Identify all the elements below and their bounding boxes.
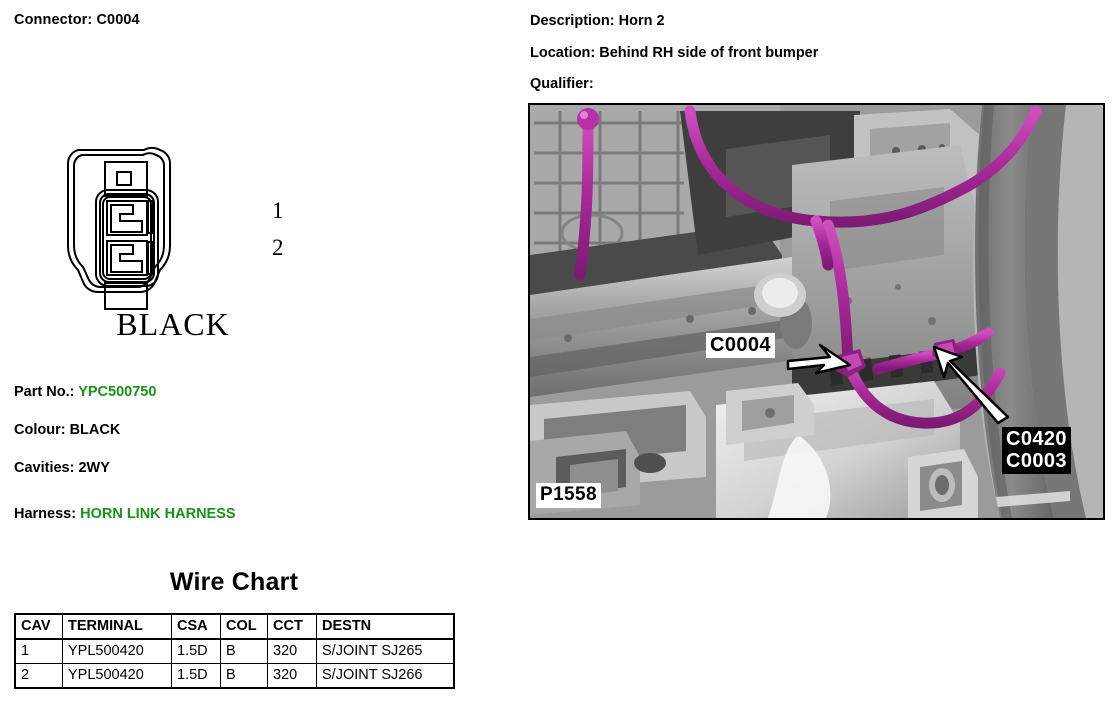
photo-callout-c0420-c0003: C0420 C0003	[1002, 427, 1071, 474]
column-header-cct: CCT	[268, 614, 317, 639]
wire-chart-table: CAV TERMINAL CSA COL CCT DESTN 1 YPL5004…	[14, 613, 455, 689]
photo-callout-c0004: C0004	[706, 333, 775, 358]
spec-part-no: Part No.: YPC500750	[14, 383, 494, 421]
cell-cav: 1	[15, 639, 63, 664]
wire-chart-header-row: CAV TERMINAL CSA COL CCT DESTN	[15, 614, 454, 639]
spec-cavities: Cavities: 2WY	[14, 459, 494, 505]
wire-chart-title: Wire Chart	[14, 568, 454, 597]
column-header-cav: CAV	[15, 614, 63, 639]
table-row: 2 YPL500420 1.5D B 320 S/JOINT SJ266	[15, 664, 454, 689]
cell-terminal: YPL500420	[63, 639, 172, 664]
spec-harness-value: HORN LINK HARNESS	[80, 506, 235, 522]
connector-pin-numbers: 1 2	[272, 192, 284, 266]
column-header-destn: DESTN	[317, 614, 455, 639]
spec-part-no-value: YPC500750	[78, 384, 156, 400]
cell-cav: 2	[15, 664, 63, 689]
cell-csa: 1.5D	[172, 639, 221, 664]
connector-colour-caption: BLACK	[78, 306, 268, 343]
connector-specs: Part No.: YPC500750 Colour: BLACK Caviti…	[14, 383, 494, 543]
left-panel: Connector: C0004	[0, 0, 520, 718]
column-header-terminal: TERMINAL	[63, 614, 172, 639]
spec-part-no-label: Part No.:	[14, 384, 74, 400]
connector-detail-page: Connector: C0004	[0, 0, 1115, 718]
photo-callout-p1558: P1558	[536, 483, 601, 508]
connector-heading: Connector: C0004	[14, 12, 140, 28]
cell-terminal: YPL500420	[63, 664, 172, 689]
cell-csa: 1.5D	[172, 664, 221, 689]
column-header-csa: CSA	[172, 614, 221, 639]
spec-harness: Harness: HORN LINK HARNESS	[14, 505, 494, 543]
cell-cct: 320	[268, 639, 317, 664]
column-header-col: COL	[221, 614, 268, 639]
table-row: 1 YPL500420 1.5D B 320 S/JOINT SJ265	[15, 639, 454, 664]
cell-destn: S/JOINT SJ266	[317, 664, 455, 689]
photo-callout-c0420-text: C0420	[1006, 428, 1067, 450]
cell-col: B	[221, 664, 268, 689]
description-line: Description: Horn 2	[530, 13, 665, 29]
photo-callout-c0003-text: C0003	[1006, 450, 1067, 472]
location-photo: C0004 C0420 C0003 P1558	[528, 103, 1105, 520]
location-line: Location: Behind RH side of front bumper	[530, 45, 818, 61]
right-panel: Description: Horn 2 Location: Behind RH …	[528, 0, 1115, 718]
cell-destn: S/JOINT SJ265	[317, 639, 455, 664]
pin-number-1: 1	[272, 192, 284, 229]
spec-harness-label: Harness:	[14, 506, 76, 522]
spec-colour-label: Colour:	[14, 422, 66, 438]
cell-cct: 320	[268, 664, 317, 689]
spec-colour: Colour: BLACK	[14, 421, 494, 459]
qualifier-line: Qualifier:	[530, 76, 594, 92]
connector-diagram: 1 2 BLACK	[60, 128, 290, 353]
spec-cavities-value: 2WY	[78, 460, 109, 476]
cell-col: B	[221, 639, 268, 664]
spec-cavities-label: Cavities:	[14, 460, 74, 476]
spec-colour-value: BLACK	[70, 422, 121, 438]
pin-number-2: 2	[272, 229, 284, 266]
